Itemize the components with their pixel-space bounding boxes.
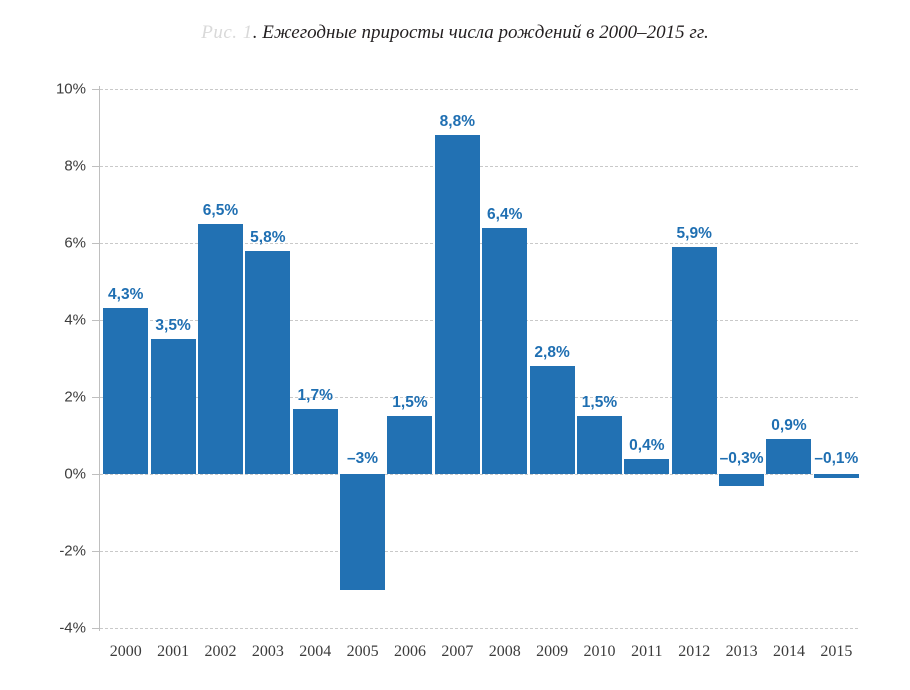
x-axis-tick-label-2012: 2012	[678, 643, 710, 661]
bar-value-label-2001: 3,5%	[155, 317, 190, 335]
chart-title-text: . Ежегодные приросты числа рождений в 20…	[253, 22, 709, 43]
gridline	[100, 551, 858, 552]
bar-2015[interactable]	[814, 474, 859, 478]
bar-2007[interactable]	[435, 135, 480, 474]
bar-value-label-2009: 2,8%	[534, 344, 569, 362]
bar-2010[interactable]	[577, 416, 622, 474]
bar-value-label-2015: –0,1%	[814, 450, 858, 468]
x-axis-tick-label-2015: 2015	[820, 643, 852, 661]
y-axis-tick-label: 2%	[0, 389, 86, 406]
bar-value-label-2014: 0,9%	[771, 417, 806, 435]
plot-area: 4,3%3,5%6,5%5,8%1,7%–3%1,5%8,8%6,4%2,8%1…	[100, 89, 858, 628]
gridline	[100, 628, 858, 629]
y-axis-tick	[92, 166, 99, 167]
bar-value-label-2003: 5,8%	[250, 229, 285, 247]
bar-2011[interactable]	[624, 459, 669, 474]
x-axis-tick-label-2009: 2009	[536, 643, 568, 661]
y-axis-tick	[92, 551, 99, 552]
bar-value-label-2010: 1,5%	[582, 394, 617, 412]
x-axis-tick-label-2014: 2014	[773, 643, 805, 661]
y-axis-tick-label: -4%	[0, 620, 86, 637]
bar-value-label-2012: 5,9%	[677, 225, 712, 243]
x-axis-tick-label-2011: 2011	[631, 643, 662, 661]
bar-value-label-2002: 6,5%	[203, 202, 238, 220]
bar-value-label-2006: 1,5%	[392, 394, 427, 412]
x-axis-tick-label-2001: 2001	[157, 643, 189, 661]
y-axis-tick	[92, 397, 99, 398]
bar-2004[interactable]	[293, 409, 338, 474]
x-axis-tick-label-2007: 2007	[441, 643, 473, 661]
chart-title: Рис. 1. Ежегодные приросты числа рождени…	[0, 22, 910, 44]
chart-title-prefix: Рис. 1	[201, 22, 253, 43]
y-axis-tick	[92, 243, 99, 244]
y-axis-tick-label: 4%	[0, 312, 86, 329]
x-axis-tick-label-2008: 2008	[489, 643, 521, 661]
x-axis-tick-label-2003: 2003	[252, 643, 284, 661]
chart-page: Рис. 1. Ежегодные приросты числа рождени…	[0, 0, 910, 690]
gridline	[100, 89, 858, 90]
bar-value-label-2000: 4,3%	[108, 286, 143, 304]
bar-2009[interactable]	[530, 366, 575, 474]
y-axis-tick	[92, 474, 99, 475]
bar-value-label-2007: 8,8%	[440, 113, 475, 131]
bar-2001[interactable]	[151, 339, 196, 474]
bar-2000[interactable]	[103, 308, 148, 474]
bar-2012[interactable]	[672, 247, 717, 474]
bar-2013[interactable]	[719, 474, 764, 486]
y-axis-tick-label: -2%	[0, 543, 86, 560]
y-axis-tick-label: 10%	[0, 81, 86, 98]
y-axis-tick-label: 8%	[0, 158, 86, 175]
x-axis-tick-label-2013: 2013	[726, 643, 758, 661]
y-axis-tick	[92, 89, 99, 90]
bar-2008[interactable]	[482, 228, 527, 474]
x-axis-tick-label-2004: 2004	[299, 643, 331, 661]
x-axis-tick-label-2006: 2006	[394, 643, 426, 661]
y-axis-tick	[92, 628, 99, 629]
bar-2005[interactable]	[340, 474, 385, 590]
bar-value-label-2011: 0,4%	[629, 437, 664, 455]
y-axis-tick	[92, 320, 99, 321]
bar-2006[interactable]	[387, 416, 432, 474]
bar-2003[interactable]	[245, 251, 290, 474]
bar-2014[interactable]	[766, 439, 811, 474]
bar-value-label-2005: –3%	[347, 450, 378, 468]
y-axis-tick-label: 0%	[0, 466, 86, 483]
bar-value-label-2008: 6,4%	[487, 206, 522, 224]
x-axis-tick-label-2000: 2000	[110, 643, 142, 661]
x-axis-tick-label-2002: 2002	[204, 643, 236, 661]
bar-value-label-2004: 1,7%	[298, 387, 333, 405]
y-axis-tick-label: 6%	[0, 235, 86, 252]
bar-2002[interactable]	[198, 224, 243, 474]
x-axis-tick-label-2005: 2005	[347, 643, 379, 661]
x-axis-tick-label-2010: 2010	[583, 643, 615, 661]
bar-value-label-2013: –0,3%	[720, 450, 764, 468]
